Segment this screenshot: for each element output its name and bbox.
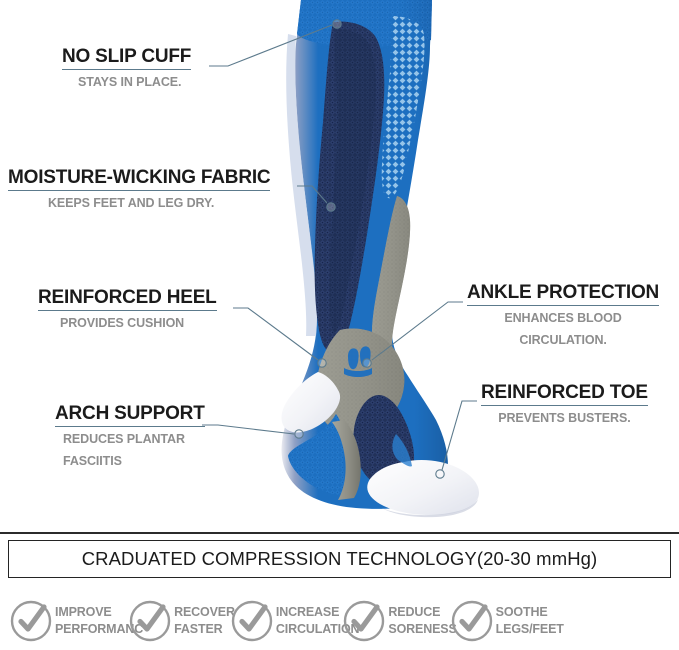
benefit-label-line-2: FASTER (174, 622, 222, 636)
sock-body (281, 0, 479, 517)
callout-title: MOISTURE-WICKING FABRIC (8, 168, 270, 191)
benefit-label: SOOTHE LEGS/FEET (496, 604, 564, 638)
callout-reinforced-toe: REINFORCED TOE PREVENTS BUSTERS. (481, 383, 648, 428)
callout-subtitle-line-1: PROVIDES CUSHION (38, 314, 217, 333)
callout-subtitle-line-2: FASCIITIS (55, 452, 205, 471)
callout-ankle-protection: ANKLE PROTECTION ENHANCES BLOOD CIRCULAT… (467, 283, 659, 351)
benefit-label-line-1: IMPROVE (55, 605, 112, 619)
compression-technology-banner: CRADUATED COMPRESSION TECHNOLOGY(20-30 m… (8, 540, 671, 578)
callout-title: REINFORCED HEEL (38, 288, 217, 311)
benefit-item: REDUCE SORENESS (341, 598, 456, 644)
callout-title: ARCH SUPPORT (55, 404, 205, 427)
callout-subtitle-line-1: REDUCES PLANTAR (55, 430, 205, 449)
check-circle-icon (341, 598, 387, 644)
section-divider (0, 532, 679, 534)
benefit-label-line-2: SORENESS (388, 622, 456, 636)
banner-text: CRADUATED COMPRESSION TECHNOLOGY(20-30 m… (82, 548, 598, 570)
benefits-row: IMPROVE PERFORMANC RECOVER FASTER (0, 592, 679, 650)
product-infographic: NO SLIP CUFF STAYS IN PLACE. MOISTURE-WI… (0, 0, 679, 650)
check-circle-icon (449, 598, 495, 644)
benefit-label-line-1: INCREASE (276, 605, 339, 619)
check-circle-icon (127, 598, 173, 644)
benefit-label: REDUCE SORENESS (388, 604, 456, 638)
callout-subtitle-line-1: KEEPS FEET AND LEG DRY. (8, 194, 270, 213)
benefit-item: SOOTHE LEGS/FEET (449, 598, 564, 644)
callout-title: ANKLE PROTECTION (467, 283, 659, 306)
benefit-label-line-1: SOOTHE (496, 605, 548, 619)
benefit-label-line-1: REDUCE (388, 605, 440, 619)
benefit-label: RECOVER FASTER (174, 604, 235, 638)
check-circle-icon (229, 598, 275, 644)
callout-title: REINFORCED TOE (481, 383, 648, 406)
benefit-item: INCREASE CIRCULATION (229, 598, 360, 644)
benefit-item: IMPROVE PERFORMANC (8, 598, 143, 644)
callout-subtitle-line-1: PREVENTS BUSTERS. (481, 409, 648, 428)
callout-subtitle-line-1: STAYS IN PLACE. (62, 73, 191, 92)
benefit-label-line-1: RECOVER (174, 605, 235, 619)
callout-moisture-wicking-fabric: MOISTURE-WICKING FABRIC KEEPS FEET AND L… (8, 168, 270, 213)
callout-reinforced-heel: REINFORCED HEEL PROVIDES CUSHION (38, 288, 217, 333)
callout-subtitle-line-2: CIRCULATION. (467, 331, 659, 350)
callout-no-slip-cuff: NO SLIP CUFF STAYS IN PLACE. (62, 47, 191, 92)
benefit-label-line-2: LEGS/FEET (496, 622, 564, 636)
callout-title: NO SLIP CUFF (62, 47, 191, 70)
callout-subtitle-line-1: ENHANCES BLOOD (467, 309, 659, 328)
check-circle-icon (8, 598, 54, 644)
callout-arch-support: ARCH SUPPORT REDUCES PLANTAR FASCIITIS (55, 404, 205, 472)
benefit-item: RECOVER FASTER (127, 598, 235, 644)
